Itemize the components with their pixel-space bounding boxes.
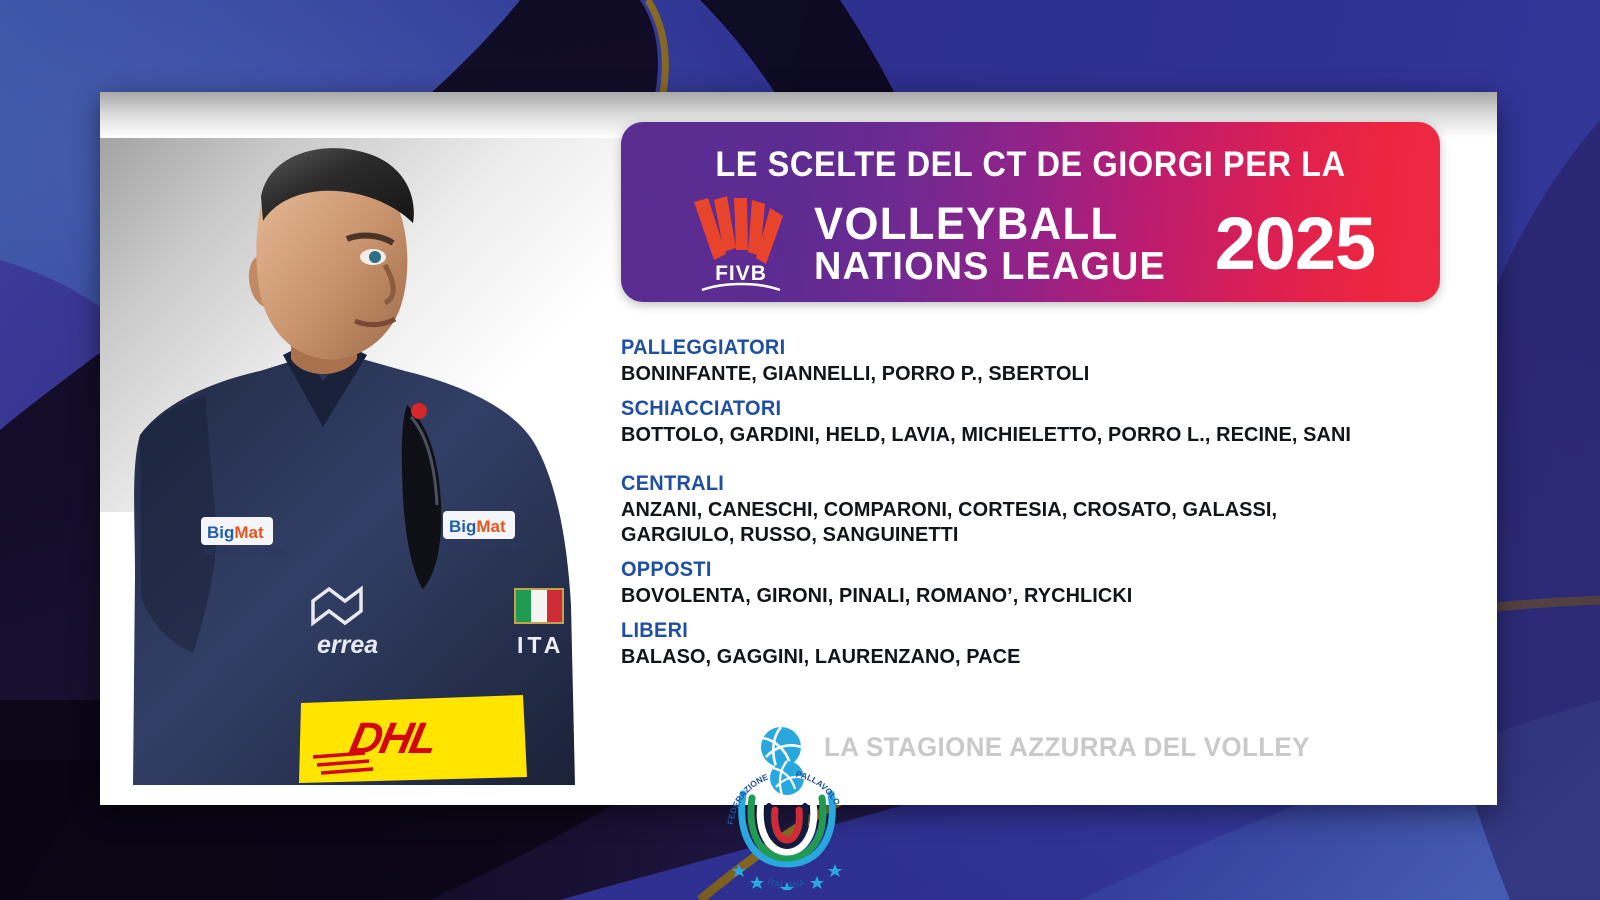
roster-group-schiacciatori: SCHIACCIATORI BOTTOLO, GARDINI, HELD, LA… bbox=[621, 397, 1411, 447]
svg-text:BigMat: BigMat bbox=[449, 517, 506, 536]
tagline-text: LA STAGIONE AZZURRA DEL VOLLEY bbox=[824, 732, 1310, 763]
fipav-crest-svg: FEDERAZIONE ITALIANA PALLAVOLO bbox=[723, 760, 851, 890]
ita-badge: ITA bbox=[515, 589, 564, 658]
roster-group-names: ANZANI, CANESCHI, COMPARONI, CORTESIA, C… bbox=[621, 498, 1387, 546]
eye-iris bbox=[369, 251, 381, 263]
vnl-word-volleyball: VOLLEYBALL bbox=[814, 202, 1166, 246]
svg-text:HOME OF BUILDERS: HOME OF BUILDERS bbox=[205, 548, 286, 557]
fipav-crest: FEDERAZIONE ITALIANA PALLAVOLO bbox=[723, 760, 851, 890]
roster-group-liberi: LIBERI BALASO, GAGGINI, LAURENZANO, PACE bbox=[621, 619, 1411, 669]
vnl-banner: LE SCELTE DEL CT DE GIORGI PER LA FIVB bbox=[621, 122, 1440, 302]
svg-text:BigMat: BigMat bbox=[207, 523, 264, 542]
roster-group-title: SCHIACCIATORI bbox=[621, 397, 1372, 421]
roster-group-opposti: OPPOSTI BOVOLENTA, GIRONI, PINALI, ROMAN… bbox=[621, 558, 1411, 608]
vnl-year: 2025 bbox=[1215, 211, 1376, 278]
roster-group-names: BOVOLENTA, GIRONI, PINALI, ROMANO’, RYCH… bbox=[621, 584, 1387, 608]
roster-group-title: PALLEGGIATORI bbox=[621, 336, 1372, 360]
coach-photo-illustration: errea ITA BigMat HOME OF BUILDERS bbox=[55, 105, 615, 785]
svg-text:HOME OF BUILDERS: HOME OF BUILDERS bbox=[447, 542, 528, 551]
coach-photo: errea ITA BigMat HOME OF BUILDERS bbox=[55, 105, 615, 785]
roster-group-palleggiatori: PALLEGGIATORI BONINFANTE, GIANNELLI, POR… bbox=[621, 336, 1411, 386]
roster-group-title: LIBERI bbox=[621, 619, 1372, 643]
svg-text:FIVB: FIVB bbox=[715, 262, 767, 285]
vnl-word-nations-league: NATIONS LEAGUE bbox=[814, 248, 1166, 286]
vnl-logo-icon: FIVB bbox=[686, 196, 796, 292]
roster-group-centrali: CENTRALI ANZANI, CANESCHI, COMPARONI, CO… bbox=[621, 472, 1411, 546]
roster-group-names: BONINFANTE, GIANNELLI, PORRO P., SBERTOL… bbox=[621, 362, 1387, 386]
svg-text:errea: errea bbox=[317, 631, 378, 659]
crest-stars bbox=[732, 864, 842, 890]
dhl-sponsor-band: DHL bbox=[299, 695, 527, 783]
roster-group-names: BOTTOLO, GARDINI, HELD, LAVIA, MICHIELET… bbox=[621, 423, 1387, 447]
svg-text:DHL: DHL bbox=[346, 714, 441, 762]
roster-group-names: BALASO, GAGGINI, LAURENZANO, PACE bbox=[621, 645, 1387, 669]
banner-headline: LE SCELTE DEL CT DE GIORGI PER LA bbox=[650, 145, 1412, 185]
crest-arcs bbox=[742, 794, 832, 864]
roster-list: PALLEGGIATORI BONINFANTE, GIANNELLI, POR… bbox=[621, 336, 1411, 680]
roster-group-title: CENTRALI bbox=[621, 472, 1372, 496]
poster-canvas: errea ITA BigMat HOME OF BUILDERS bbox=[0, 0, 1600, 900]
vnl-wordmark: VOLLEYBALL NATIONS LEAGUE bbox=[814, 202, 1177, 286]
roster-group-title: OPPOSTI bbox=[621, 558, 1372, 582]
svg-text:ITA: ITA bbox=[517, 632, 564, 658]
banner-logo-row: FIVB VOLLEYBALL NATIONS LEAGUE 2025 bbox=[621, 194, 1440, 294]
vnl-logo-svg: FIVB bbox=[686, 196, 796, 292]
crest-text-pallavolo: PALLAVOLO bbox=[795, 769, 842, 807]
